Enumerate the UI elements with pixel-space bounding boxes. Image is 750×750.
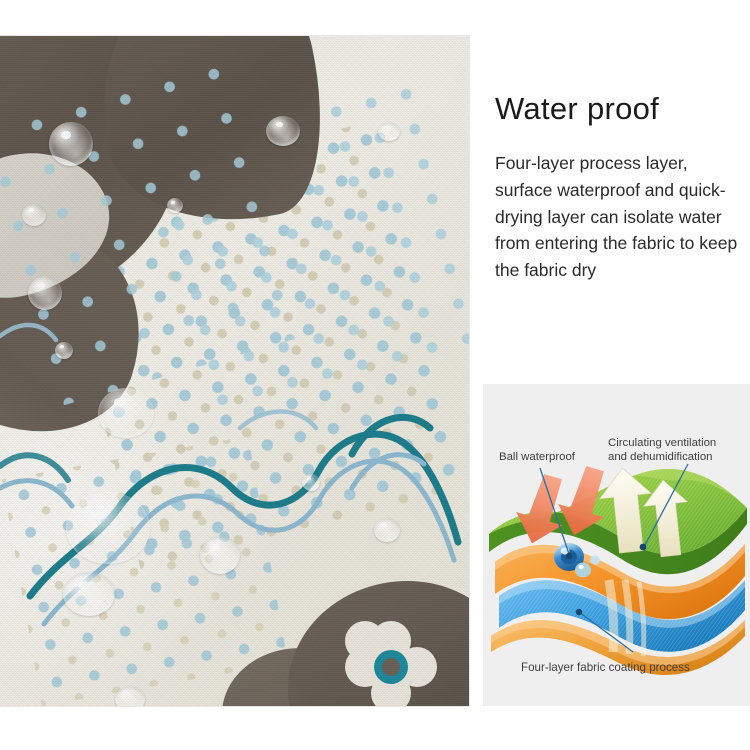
four-layer-diagram-panel: Ball waterproof Circulating ventilation … xyxy=(483,384,750,706)
water-bead xyxy=(66,492,150,564)
water-bead xyxy=(22,204,46,226)
water-bead xyxy=(28,276,62,310)
label-ball-waterproof: Ball waterproof xyxy=(499,450,575,464)
layer-stack-illustration xyxy=(483,384,750,706)
feature-description: Four-layer process layer, surface waterp… xyxy=(495,150,745,284)
water-bead xyxy=(167,198,183,213)
water-bead xyxy=(378,122,400,141)
water-bead xyxy=(200,536,240,574)
water-bead xyxy=(55,342,73,359)
feature-text-block: Water proof Four-layer process layer, su… xyxy=(495,92,745,284)
water-bead xyxy=(302,474,320,491)
flower-core xyxy=(382,658,400,676)
label-four-layer-process: Four-layer fabric coating process xyxy=(521,661,690,675)
water-bead xyxy=(266,116,300,146)
water-bead xyxy=(374,518,400,542)
fabric-photo xyxy=(0,36,469,706)
page-title: Water proof xyxy=(495,92,745,126)
water-bead xyxy=(63,572,115,616)
product-feature-card: Water proof Four-layer process layer, su… xyxy=(0,0,750,750)
flower-motif xyxy=(345,621,437,706)
fabric-photo-frame xyxy=(0,36,469,706)
water-bead xyxy=(49,122,93,166)
water-bead xyxy=(115,686,145,706)
water-bead xyxy=(98,388,154,438)
label-circulating-ventilation: Circulating ventilation and dehumidifica… xyxy=(608,436,716,465)
